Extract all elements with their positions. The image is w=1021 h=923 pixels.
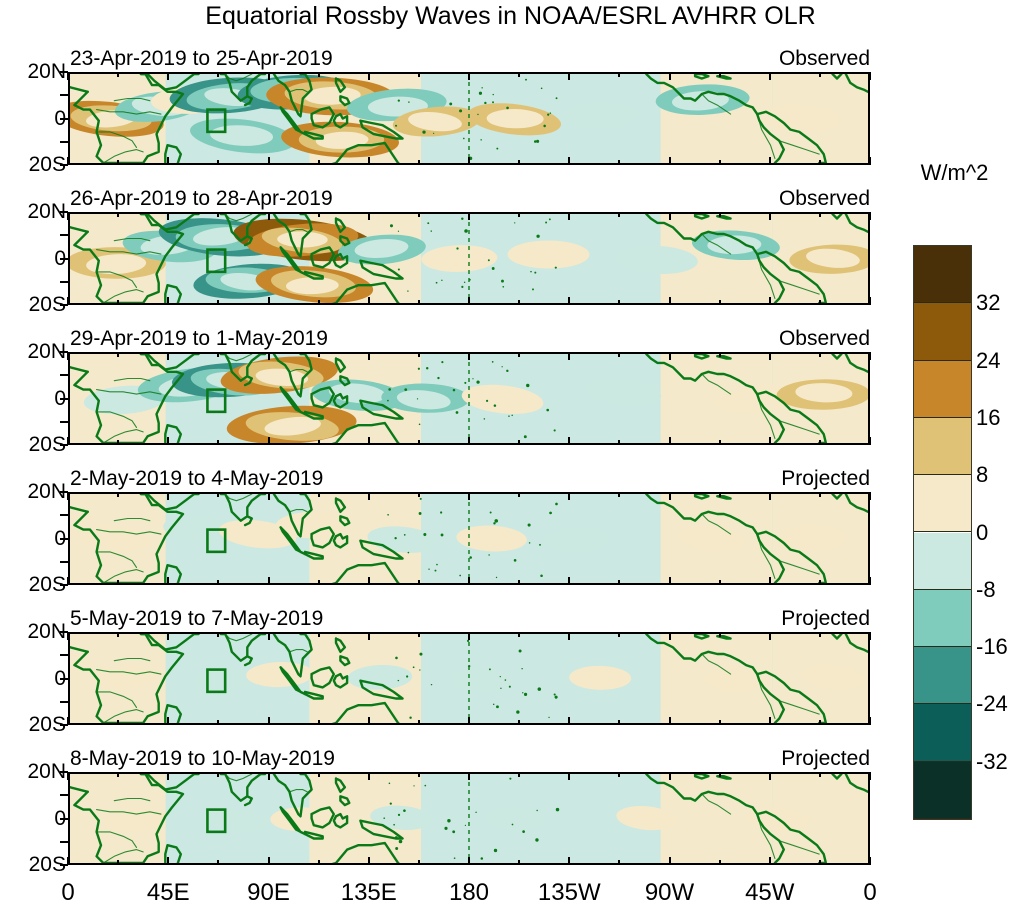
x-tick-mark	[518, 160, 520, 165]
x-tick-mark	[167, 857, 169, 865]
colorbar-band	[914, 704, 971, 761]
x-tick-mark	[869, 632, 871, 640]
x-tick-label: 135E	[341, 879, 397, 907]
x-tick-mark	[368, 857, 370, 865]
x-tick-mark	[268, 577, 270, 585]
panel-header: 26-Apr-2019 to 28-Apr-2019Observed	[68, 186, 870, 212]
olr-anomaly-field	[70, 774, 868, 863]
x-tick-mark	[669, 212, 671, 220]
y-axis: 20N020S	[0, 632, 66, 725]
y-tick-mark	[60, 561, 68, 563]
colorbar-tick-label: -32	[976, 751, 1008, 773]
x-axis: 045E90E135E180135W90W45W0	[0, 869, 890, 909]
x-tick-mark	[67, 72, 69, 80]
x-tick-label: 0	[863, 879, 876, 907]
x-tick-mark	[618, 300, 620, 305]
x-tick-mark	[368, 437, 370, 445]
y-tick-mark	[60, 234, 68, 236]
x-tick-mark	[418, 212, 420, 217]
x-tick-mark	[819, 440, 821, 445]
y-tick-mark	[60, 141, 68, 143]
x-tick-mark	[217, 772, 219, 777]
x-tick-mark	[468, 772, 470, 780]
map-plot-area	[68, 352, 870, 445]
y-tick-label: 20S	[4, 714, 66, 735]
x-tick-mark	[318, 720, 320, 725]
x-tick-mark	[167, 632, 169, 640]
x-tick-mark	[117, 772, 119, 777]
x-tick-mark	[217, 352, 219, 357]
x-tick-mark	[468, 297, 470, 305]
panel-date-range: 29-Apr-2019 to 1-May-2019	[70, 326, 328, 352]
panel-date-range: 5-May-2019 to 7-May-2019	[70, 606, 323, 632]
x-tick-mark	[418, 720, 420, 725]
x-tick-mark	[117, 580, 119, 585]
x-tick-mark	[869, 352, 871, 360]
x-tick-mark	[568, 72, 570, 80]
x-tick-mark	[719, 860, 721, 865]
x-tick-mark	[719, 772, 721, 777]
y-tick-label: 20S	[4, 294, 66, 315]
x-tick-mark	[67, 212, 69, 220]
x-tick-mark	[368, 72, 370, 80]
x-tick-mark	[669, 437, 671, 445]
x-tick-mark	[318, 580, 320, 585]
x-tick-mark	[769, 297, 771, 305]
y-tick-label: 0	[4, 248, 66, 269]
x-tick-mark	[67, 352, 69, 360]
x-tick-mark	[518, 632, 520, 637]
y-tick-label: 0	[4, 528, 66, 549]
x-tick-mark	[318, 860, 320, 865]
y-tick-label: 20S	[4, 574, 66, 595]
colorbar-tick-label: 24	[976, 350, 1000, 372]
x-tick-mark	[468, 212, 470, 220]
y-tick-mark	[60, 281, 68, 283]
x-tick-mark	[568, 437, 570, 445]
olr-anomaly-field	[70, 74, 868, 163]
panel-status-label: Observed	[779, 326, 870, 352]
x-tick-mark	[468, 72, 470, 80]
y-tick-label: 0	[4, 388, 66, 409]
y-axis: 20N020S	[0, 72, 66, 165]
y-tick-label: 20N	[4, 621, 66, 642]
panel-header: 29-Apr-2019 to 1-May-2019Observed	[68, 326, 870, 352]
colorbar-band	[914, 361, 971, 418]
x-tick-mark	[618, 720, 620, 725]
x-tick-mark	[167, 352, 169, 360]
x-tick-mark	[869, 212, 871, 220]
x-tick-mark	[669, 717, 671, 725]
olr-anomaly-field	[70, 354, 868, 443]
panel-date-range: 8-May-2019 to 10-May-2019	[70, 746, 335, 772]
x-tick-mark	[117, 300, 119, 305]
x-tick-mark	[268, 72, 270, 80]
x-tick-mark	[518, 72, 520, 77]
x-tick-mark	[217, 160, 219, 165]
x-tick-mark	[117, 440, 119, 445]
x-tick-mark	[167, 717, 169, 725]
x-tick-mark	[819, 720, 821, 725]
x-tick-mark	[318, 300, 320, 305]
x-tick-mark	[869, 72, 871, 80]
colorbar-tick-label: -8	[976, 579, 996, 601]
y-axis: 20N020S	[0, 352, 66, 445]
x-tick-mark	[869, 157, 871, 165]
x-tick-mark	[669, 632, 671, 640]
x-tick-mark	[719, 160, 721, 165]
colorbar-unit-label: W/m^2	[888, 160, 1021, 186]
colorbar-band	[914, 418, 971, 475]
y-tick-mark	[60, 398, 68, 400]
x-tick-mark	[117, 72, 119, 77]
y-tick-mark	[60, 654, 68, 656]
y-tick-label: 20N	[4, 61, 66, 82]
x-tick-mark	[468, 577, 470, 585]
x-tick-mark	[468, 857, 470, 865]
x-tick-mark	[318, 492, 320, 497]
x-tick-mark	[568, 772, 570, 780]
panel-date-range: 26-Apr-2019 to 28-Apr-2019	[70, 186, 333, 212]
x-tick-label: 0	[61, 879, 74, 907]
x-tick-mark	[418, 772, 420, 777]
x-tick-mark	[368, 492, 370, 500]
x-tick-mark	[618, 352, 620, 357]
x-tick-mark	[67, 297, 69, 305]
x-tick-label: 135W	[538, 879, 601, 907]
y-tick-label: 20S	[4, 434, 66, 455]
x-tick-mark	[819, 860, 821, 865]
x-tick-mark	[368, 352, 370, 360]
x-tick-mark	[67, 717, 69, 725]
colorbar-tick-label: 16	[976, 407, 1000, 429]
x-tick-mark	[869, 492, 871, 500]
x-tick-mark	[418, 352, 420, 357]
x-tick-mark	[117, 492, 119, 497]
x-tick-mark	[368, 632, 370, 640]
x-tick-mark	[618, 492, 620, 497]
x-tick-mark	[518, 772, 520, 777]
x-tick-mark	[318, 440, 320, 445]
colorbar-tick-label: 8	[976, 464, 988, 486]
x-tick-mark	[568, 857, 570, 865]
x-tick-mark	[719, 300, 721, 305]
x-tick-mark	[368, 577, 370, 585]
colorbar-band	[914, 303, 971, 360]
x-tick-mark	[869, 297, 871, 305]
y-tick-mark	[60, 841, 68, 843]
x-tick-mark	[67, 492, 69, 500]
x-tick-mark	[568, 212, 570, 220]
x-tick-mark	[568, 632, 570, 640]
x-tick-label: 45E	[147, 879, 190, 907]
x-tick-mark	[869, 772, 871, 780]
y-tick-mark	[60, 258, 68, 260]
y-tick-label: 20S	[4, 154, 66, 175]
x-tick-mark	[217, 720, 219, 725]
panel-status-label: Projected	[781, 466, 870, 492]
x-tick-mark	[769, 492, 771, 500]
x-tick-mark	[318, 352, 320, 357]
x-tick-mark	[268, 772, 270, 780]
x-tick-mark	[117, 352, 119, 357]
x-tick-mark	[117, 720, 119, 725]
x-tick-mark	[719, 720, 721, 725]
y-tick-label: 0	[4, 668, 66, 689]
y-axis: 20N020S	[0, 492, 66, 585]
colorbar: 32241680-8-16-24-32	[913, 245, 972, 820]
x-tick-mark	[268, 157, 270, 165]
x-tick-mark	[468, 632, 470, 640]
y-axis: 20N020S	[0, 772, 66, 865]
x-tick-mark	[669, 352, 671, 360]
x-tick-mark	[268, 297, 270, 305]
panel-header: 5-May-2019 to 7-May-2019Projected	[68, 606, 870, 632]
x-tick-mark	[669, 72, 671, 80]
x-tick-mark	[869, 437, 871, 445]
x-tick-mark	[618, 72, 620, 77]
x-tick-mark	[769, 717, 771, 725]
y-tick-mark	[60, 94, 68, 96]
x-tick-mark	[669, 492, 671, 500]
x-tick-mark	[819, 300, 821, 305]
y-tick-label: 20N	[4, 761, 66, 782]
x-tick-mark	[719, 492, 721, 497]
x-tick-mark	[618, 772, 620, 777]
colorbar-band	[914, 647, 971, 704]
x-tick-mark	[819, 580, 821, 585]
colorbar-band	[914, 762, 971, 819]
x-tick-mark	[518, 352, 520, 357]
y-tick-mark	[60, 701, 68, 703]
x-tick-mark	[618, 580, 620, 585]
x-tick-mark	[368, 717, 370, 725]
map-plot-area	[68, 632, 870, 725]
x-tick-mark	[769, 632, 771, 640]
x-tick-mark	[518, 860, 520, 865]
x-tick-mark	[418, 860, 420, 865]
x-tick-mark	[518, 720, 520, 725]
x-tick-mark	[117, 212, 119, 217]
x-tick-mark	[268, 717, 270, 725]
x-tick-mark	[67, 437, 69, 445]
colorbar-band	[914, 246, 971, 303]
x-tick-label: 180	[449, 879, 489, 907]
y-tick-mark	[60, 794, 68, 796]
x-tick-mark	[819, 772, 821, 777]
x-tick-mark	[468, 352, 470, 360]
panel-date-range: 23-Apr-2019 to 25-Apr-2019	[70, 46, 333, 72]
x-tick-mark	[669, 857, 671, 865]
colorbar-band	[914, 590, 971, 647]
x-tick-mark	[318, 632, 320, 637]
map-plot-area	[68, 72, 870, 165]
x-tick-mark	[568, 352, 570, 360]
x-tick-mark	[117, 160, 119, 165]
x-tick-mark	[67, 857, 69, 865]
x-tick-mark	[468, 437, 470, 445]
x-tick-mark	[418, 300, 420, 305]
x-tick-mark	[819, 492, 821, 497]
x-tick-mark	[368, 297, 370, 305]
x-tick-mark	[618, 440, 620, 445]
x-tick-mark	[819, 352, 821, 357]
x-tick-mark	[719, 352, 721, 357]
x-tick-mark	[518, 492, 520, 497]
x-tick-mark	[217, 300, 219, 305]
y-tick-label: 0	[4, 108, 66, 129]
x-tick-mark	[368, 212, 370, 220]
x-tick-mark	[418, 632, 420, 637]
panel-header: 2-May-2019 to 4-May-2019Projected	[68, 466, 870, 492]
x-tick-mark	[418, 440, 420, 445]
x-tick-mark	[217, 440, 219, 445]
x-tick-mark	[167, 437, 169, 445]
x-tick-mark	[819, 72, 821, 77]
x-tick-mark	[318, 72, 320, 77]
colorbar-tick-label: 0	[976, 522, 988, 544]
page-title: Equatorial Rossby Waves in NOAA/ESRL AVH…	[0, 2, 1021, 31]
x-tick-mark	[869, 717, 871, 725]
panel-status-label: Observed	[779, 46, 870, 72]
x-tick-label: 45W	[745, 879, 794, 907]
colorbar-band	[914, 533, 971, 590]
x-tick-mark	[618, 632, 620, 637]
x-tick-mark	[167, 577, 169, 585]
map-plot-area	[68, 212, 870, 305]
x-tick-mark	[268, 212, 270, 220]
colorbar-tick-label: -24	[976, 693, 1008, 715]
x-tick-mark	[869, 857, 871, 865]
x-tick-mark	[67, 772, 69, 780]
panel-status-label: Observed	[779, 186, 870, 212]
x-tick-mark	[268, 492, 270, 500]
x-tick-mark	[418, 492, 420, 497]
map-plot-area	[68, 772, 870, 865]
panel-date-range: 2-May-2019 to 4-May-2019	[70, 466, 323, 492]
y-tick-label: 20N	[4, 201, 66, 222]
x-tick-mark	[368, 772, 370, 780]
x-tick-mark	[518, 440, 520, 445]
x-tick-mark	[719, 580, 721, 585]
x-tick-mark	[217, 632, 219, 637]
x-tick-mark	[568, 577, 570, 585]
x-tick-mark	[618, 212, 620, 217]
x-tick-mark	[268, 857, 270, 865]
x-tick-mark	[67, 157, 69, 165]
x-tick-mark	[819, 632, 821, 637]
x-tick-mark	[769, 857, 771, 865]
x-tick-mark	[318, 212, 320, 217]
x-tick-mark	[669, 297, 671, 305]
x-tick-mark	[318, 772, 320, 777]
x-tick-mark	[268, 437, 270, 445]
x-tick-mark	[217, 212, 219, 217]
x-tick-mark	[769, 772, 771, 780]
panel-status-label: Projected	[781, 606, 870, 632]
y-tick-mark	[60, 374, 68, 376]
x-tick-mark	[368, 157, 370, 165]
colorbar-tick-label: -16	[976, 636, 1008, 658]
x-tick-mark	[217, 580, 219, 585]
colorbar-band	[914, 475, 971, 532]
x-tick-mark	[167, 772, 169, 780]
map-plot-area	[68, 492, 870, 585]
x-tick-mark	[217, 492, 219, 497]
olr-anomaly-field	[70, 494, 868, 583]
x-tick-mark	[518, 212, 520, 217]
x-tick-mark	[167, 212, 169, 220]
x-tick-mark	[769, 72, 771, 80]
olr-anomaly-field	[70, 214, 868, 303]
x-tick-mark	[418, 72, 420, 77]
x-tick-mark	[669, 772, 671, 780]
x-tick-mark	[67, 577, 69, 585]
x-tick-mark	[468, 717, 470, 725]
x-tick-label: 90W	[645, 879, 694, 907]
x-tick-mark	[869, 577, 871, 585]
x-tick-mark	[268, 352, 270, 360]
x-tick-mark	[468, 492, 470, 500]
x-tick-mark	[518, 580, 520, 585]
x-tick-mark	[719, 212, 721, 217]
x-tick-mark	[217, 860, 219, 865]
y-tick-mark	[60, 421, 68, 423]
x-tick-mark	[819, 212, 821, 217]
panel-header: 23-Apr-2019 to 25-Apr-2019Observed	[68, 46, 870, 72]
panel-header: 8-May-2019 to 10-May-2019Projected	[68, 746, 870, 772]
olr-anomaly-field	[70, 634, 868, 723]
y-tick-mark	[60, 514, 68, 516]
x-tick-mark	[769, 352, 771, 360]
x-tick-mark	[418, 580, 420, 585]
x-tick-mark	[769, 437, 771, 445]
x-tick-label: 90E	[247, 879, 290, 907]
x-tick-mark	[769, 157, 771, 165]
x-tick-mark	[167, 157, 169, 165]
x-tick-mark	[819, 160, 821, 165]
x-tick-mark	[618, 860, 620, 865]
y-tick-mark	[60, 118, 68, 120]
x-tick-mark	[719, 440, 721, 445]
x-tick-mark	[167, 72, 169, 80]
x-tick-mark	[719, 72, 721, 77]
x-tick-mark	[67, 632, 69, 640]
x-tick-mark	[769, 577, 771, 585]
x-tick-mark	[468, 157, 470, 165]
x-tick-mark	[719, 632, 721, 637]
x-tick-mark	[568, 297, 570, 305]
x-tick-mark	[268, 632, 270, 640]
x-tick-mark	[669, 157, 671, 165]
y-axis: 20N020S	[0, 212, 66, 305]
x-tick-mark	[117, 860, 119, 865]
x-tick-mark	[318, 160, 320, 165]
x-tick-mark	[167, 297, 169, 305]
x-tick-mark	[769, 212, 771, 220]
x-tick-mark	[167, 492, 169, 500]
y-tick-mark	[60, 818, 68, 820]
x-tick-mark	[618, 160, 620, 165]
y-tick-label: 20N	[4, 481, 66, 502]
y-tick-mark	[60, 538, 68, 540]
y-tick-mark	[60, 678, 68, 680]
x-tick-mark	[418, 160, 420, 165]
x-tick-mark	[518, 300, 520, 305]
x-tick-mark	[217, 72, 219, 77]
panel-status-label: Projected	[781, 746, 870, 772]
y-tick-label: 0	[4, 808, 66, 829]
